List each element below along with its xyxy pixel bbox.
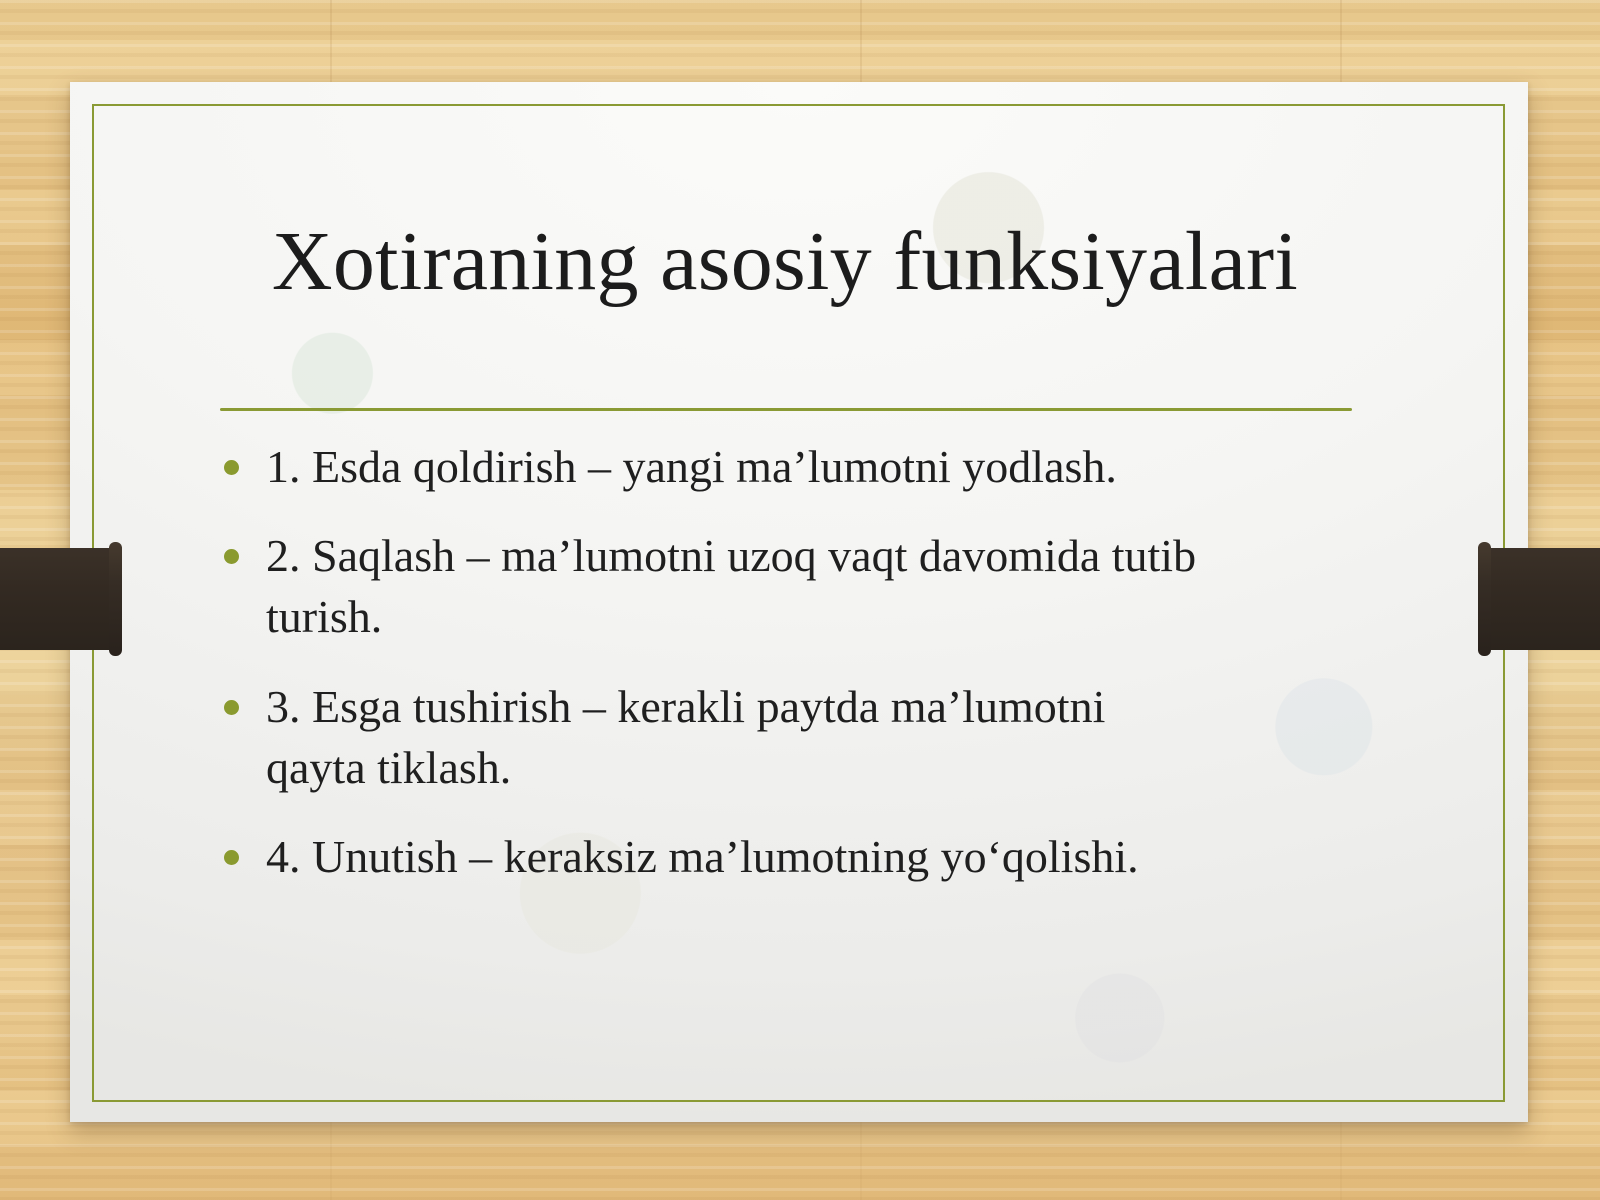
bullet-list: 1. Esda qoldirish – yangi ma’lumotni yod… bbox=[216, 436, 1216, 887]
list-item: 4. Unutish – keraksiz ma’lumotning yoʻqo… bbox=[216, 826, 1216, 887]
bullet-dot-icon bbox=[224, 460, 239, 475]
board-clip-left bbox=[0, 548, 122, 650]
list-item-label: 3. Esga tushirish – kerakli paytda ma’lu… bbox=[266, 681, 1105, 793]
board-clip-left-cap bbox=[109, 542, 122, 656]
slide-content: Xotiraning asosiy funksiyalari 1. Esda q… bbox=[0, 0, 1600, 1200]
list-item: 2. Saqlash – ma’lumotni uzoq vaqt davomi… bbox=[216, 525, 1216, 647]
bullet-dot-icon bbox=[224, 850, 239, 865]
title-divider bbox=[220, 408, 1352, 411]
slide-background: Xotiraning asosiy funksiyalari 1. Esda q… bbox=[0, 0, 1600, 1200]
list-item: 1. Esda qoldirish – yangi ma’lumotni yod… bbox=[216, 436, 1216, 497]
bullet-dot-icon bbox=[224, 549, 239, 564]
bullet-dot-icon bbox=[224, 700, 239, 715]
board-clip-right-cap bbox=[1478, 542, 1491, 656]
board-clip-right bbox=[1478, 548, 1600, 650]
list-item-label: 2. Saqlash – ma’lumotni uzoq vaqt davomi… bbox=[266, 530, 1196, 642]
page-title: Xotiraning asosiy funksiyalari bbox=[215, 214, 1355, 311]
list-item-label: 1. Esda qoldirish – yangi ma’lumotni yod… bbox=[266, 441, 1117, 492]
list-item: 3. Esga tushirish – kerakli paytda ma’lu… bbox=[216, 676, 1216, 798]
list-item-label: 4. Unutish – keraksiz ma’lumotning yoʻqo… bbox=[266, 831, 1139, 882]
